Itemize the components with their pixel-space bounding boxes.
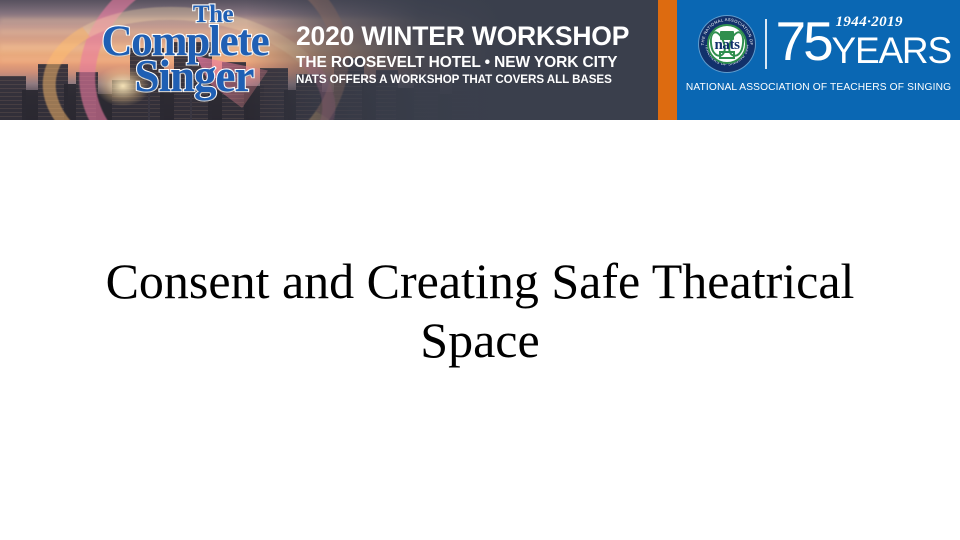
complete-singer-wordmark: The Complete Singer (80, 2, 290, 99)
anniversary-number: 75 (776, 14, 831, 69)
banner-headline: 2020 WINTER WORKSHOP (296, 22, 648, 50)
seal-nats-text: nats (709, 38, 745, 53)
nats-seal-icon: THE NATIONAL ASSOCIATION OF TEACHERS OF … (699, 16, 755, 72)
anniversary-dates: 1944·2019 (836, 15, 903, 30)
banner-subtitle: THE ROOSEVELT HOTEL • NEW YORK CITY (296, 53, 648, 72)
banner-headline-block: 2020 WINTER WORKSHOP THE ROOSEVELT HOTEL… (296, 22, 648, 88)
orange-divider (658, 0, 677, 120)
banner-tagline: NATS OFFERS A WORKSHOP THAT COVERS ALL B… (296, 73, 648, 87)
event-banner: The Complete Singer 2020 WINTER WORKSHOP… (0, 0, 960, 120)
seal-inner-circle: nats (707, 24, 747, 64)
presentation-slide: The Complete Singer 2020 WINTER WORKSHOP… (0, 0, 960, 540)
nats-logo-panel: THE NATIONAL ASSOCIATION OF TEACHERS OF … (677, 0, 960, 120)
nats-logo-row: THE NATIONAL ASSOCIATION OF TEACHERS OF … (699, 16, 776, 72)
anniversary-years: YEARS (832, 32, 951, 69)
slide-title: Consent and Creating Safe Theatrical Spa… (60, 252, 900, 370)
nats-caption: NATIONAL ASSOCIATION OF TEACHERS OF SING… (677, 82, 960, 93)
logo-divider (765, 19, 767, 69)
